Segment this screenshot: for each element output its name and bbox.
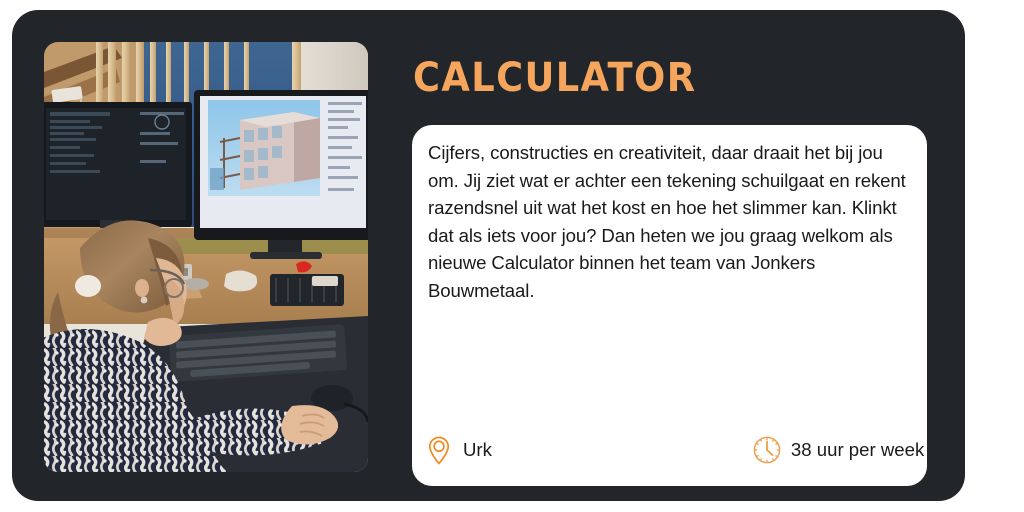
location-pin-icon xyxy=(422,433,456,467)
page-title: CALCULATOR xyxy=(413,58,696,98)
job-location: Urk xyxy=(422,433,492,467)
workplace-photo: 2 xyxy=(44,42,368,472)
job-description: Cijfers, constructies en creativiteit, d… xyxy=(428,139,911,304)
job-info-panel: Cijfers, constructies en creativiteit, d… xyxy=(412,125,927,486)
job-content-column: CALCULATOR Cijfers, constructies en crea… xyxy=(400,42,927,476)
job-location-label: Urk xyxy=(463,440,492,460)
vacancy-card: 2 xyxy=(12,10,965,501)
job-hours: 38 uur per week xyxy=(750,433,924,467)
job-meta-row: Urk xyxy=(412,426,927,474)
clock-icon xyxy=(750,433,784,467)
job-hours-label: 38 uur per week xyxy=(791,440,924,460)
workplace-photo-illustration: 2 xyxy=(44,42,368,472)
